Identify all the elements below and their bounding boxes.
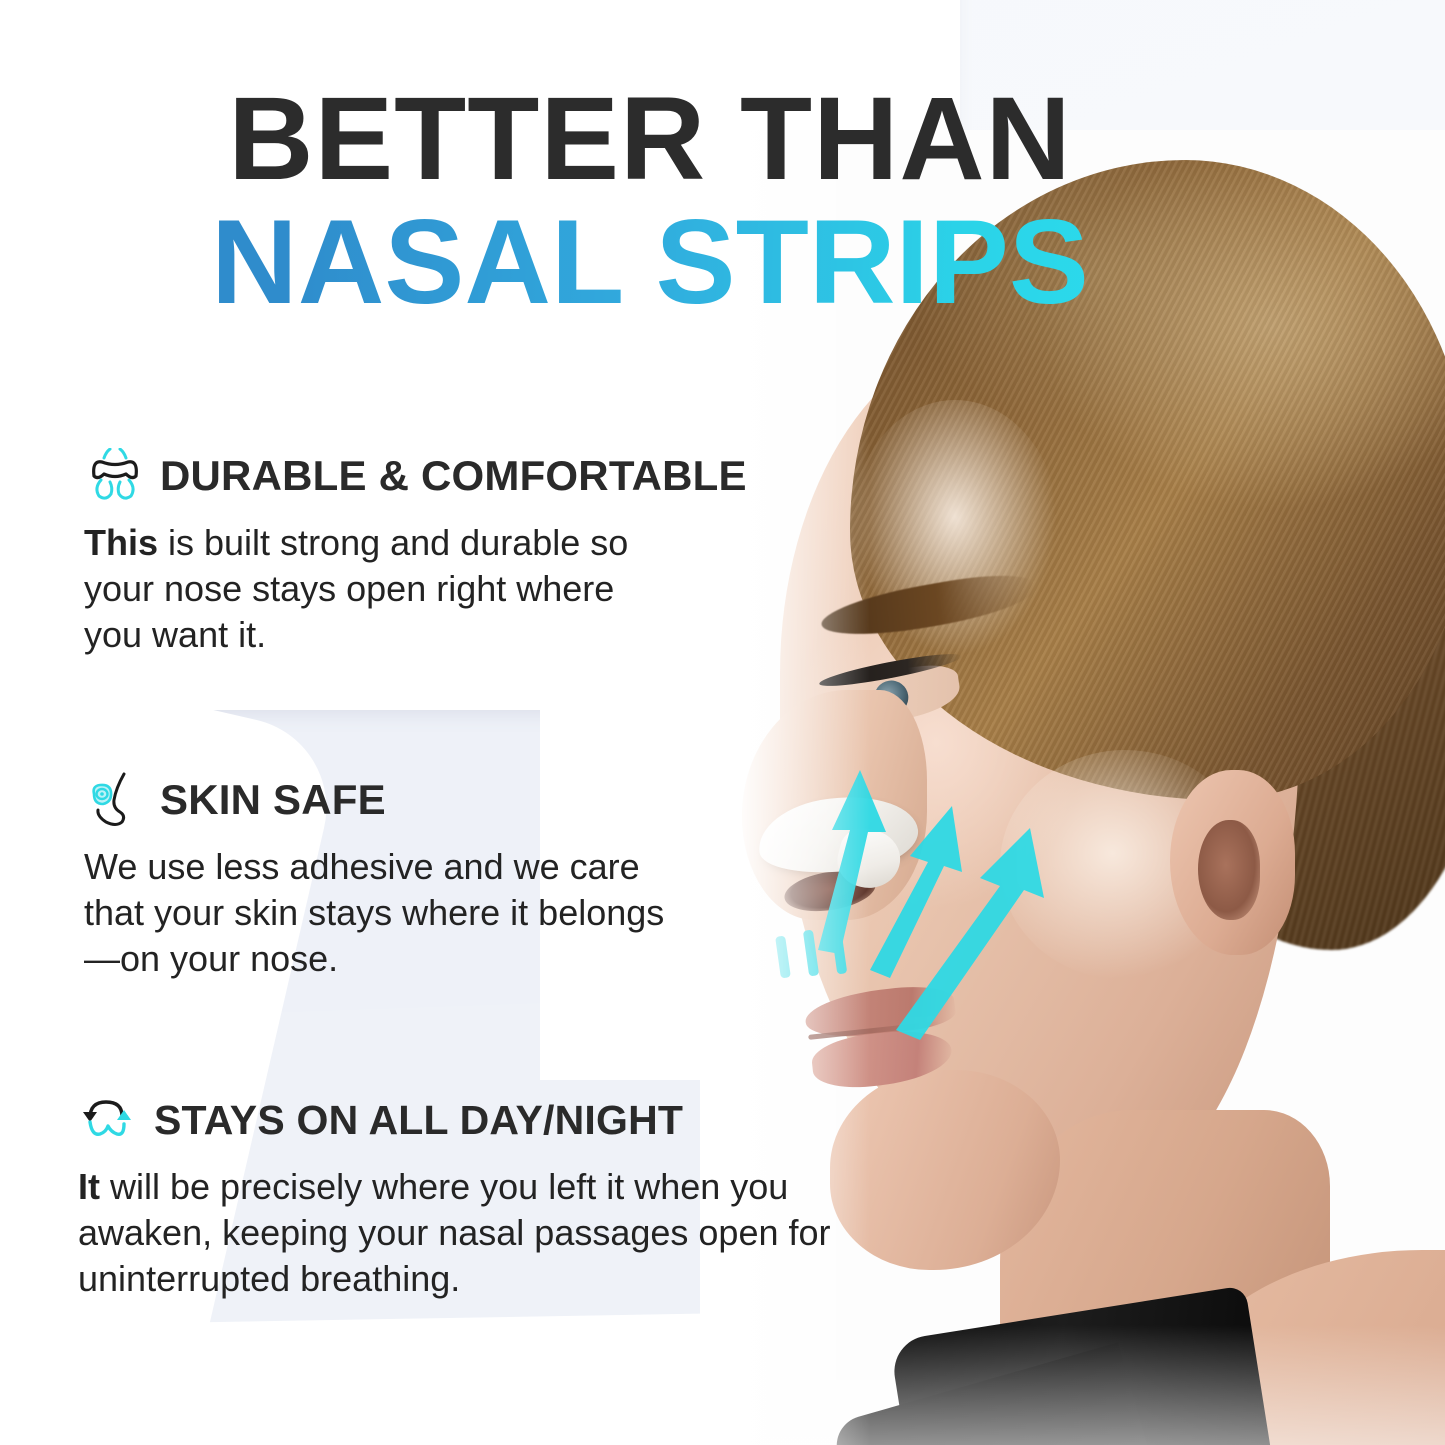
feature-block-stays-on: STAYS ON ALL DAY/NIGHT It will be precis… bbox=[78, 1092, 898, 1302]
nose-dilator-airflow-icon bbox=[84, 448, 146, 504]
feature-2-text: We use less adhesive and we care that yo… bbox=[84, 846, 664, 979]
cycle-arrows-icon bbox=[78, 1092, 140, 1148]
page-title: BETTER THAN NASAL STRIPS bbox=[0, 82, 1300, 321]
feature-3-body: It will be precisely where you left it w… bbox=[78, 1164, 898, 1302]
airflow-arrow-3 bbox=[896, 828, 1044, 1040]
feature-2-header: SKIN SAFE bbox=[84, 772, 684, 828]
feature-1-text: is built strong and durable so your nose… bbox=[84, 522, 628, 655]
feature-block-durable-comfortable: DURABLE & COMFORTABLE This is built stro… bbox=[84, 448, 747, 658]
feature-2-body: We use less adhesive and we care that yo… bbox=[84, 844, 684, 982]
feature-3-lead: It bbox=[78, 1166, 100, 1207]
feature-2-title: SKIN SAFE bbox=[160, 776, 386, 824]
feature-1-body: This is built strong and durable so your… bbox=[84, 520, 664, 658]
headline-line-1: BETTER THAN bbox=[0, 82, 1300, 196]
headline-line-2: NASAL STRIPS bbox=[0, 204, 1300, 320]
feature-3-title: STAYS ON ALL DAY/NIGHT bbox=[154, 1097, 683, 1144]
nose-profile-patch-icon bbox=[84, 772, 146, 828]
feature-1-header: DURABLE & COMFORTABLE bbox=[84, 448, 747, 504]
photo-bottom-fade bbox=[700, 1325, 1445, 1445]
feature-1-title: DURABLE & COMFORTABLE bbox=[160, 452, 747, 500]
feature-block-skin-safe: SKIN SAFE We use less adhesive and we ca… bbox=[84, 772, 684, 982]
feature-1-lead: This bbox=[84, 522, 158, 563]
product-feature-graphic: BETTER THAN NASAL STRIPS DURABLE & COMFO… bbox=[0, 0, 1445, 1445]
feature-3-text: will be precisely where you left it when… bbox=[78, 1166, 831, 1299]
feature-3-header: STAYS ON ALL DAY/NIGHT bbox=[78, 1092, 898, 1148]
